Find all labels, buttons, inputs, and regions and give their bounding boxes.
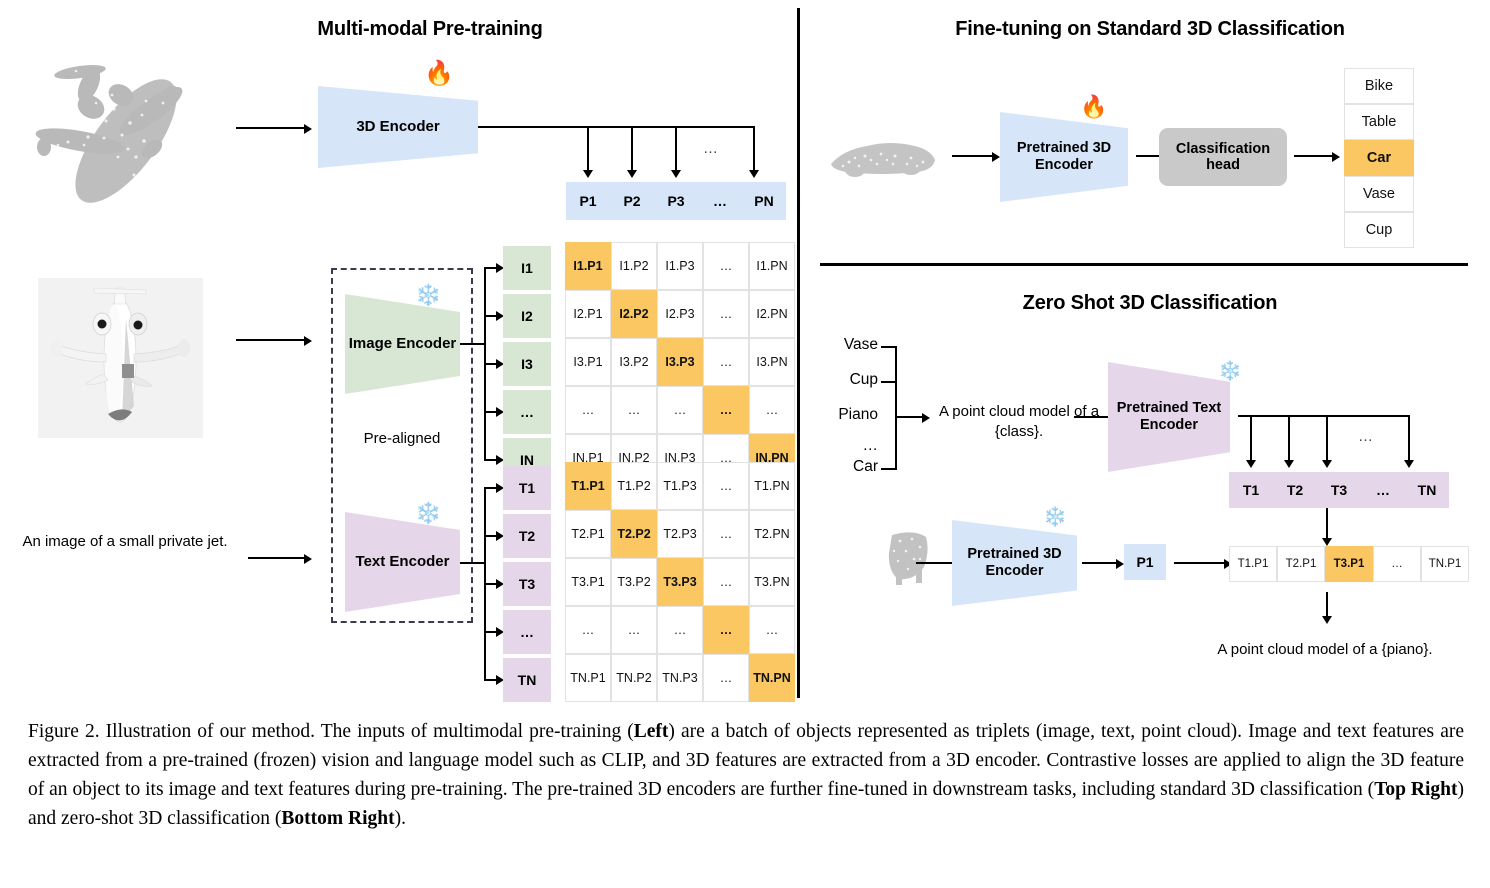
text-matrix-cell-r2c4: … — [703, 510, 749, 558]
zeroshot-score-4: … — [1373, 546, 1421, 582]
panel-divider-vertical — [797, 8, 800, 698]
arrowhead-t3-to-score — [1322, 538, 1332, 546]
zeroshot-t-token-3: T3 — [1317, 472, 1361, 508]
caption-part-2: Left — [634, 721, 669, 742]
snowflake-icon-text-zeroshot: ❄️ — [1218, 362, 1242, 381]
zeroshot-class-4: … — [806, 436, 878, 457]
class-bracket-tick-car — [881, 468, 896, 470]
zeroshot-result-text: A point cloud model of a {piano}. — [1180, 640, 1470, 660]
flame-icon-finetune: 🔥 — [1080, 96, 1107, 118]
bottom-right-panel-title: Zero Shot 3D Classification — [830, 292, 1470, 315]
text-matrix-cell-r3c2: T3.P2 — [611, 558, 657, 606]
arrowhead-p3 — [671, 170, 681, 178]
text-matrix-cell-r5c1: TN.P1 — [565, 654, 611, 702]
image-matrix-cell-r2c5: I2.PN — [749, 290, 795, 338]
image-fanout-stem — [460, 343, 484, 345]
arrowhead-score-to-result — [1322, 616, 1332, 624]
jet-image-box — [38, 278, 203, 438]
i-token-2: I2 — [503, 294, 551, 338]
image-matrix-cell-r1c4: … — [703, 242, 749, 290]
class-bracket-vertical — [895, 346, 897, 470]
caption-part-4: Top Right — [1374, 779, 1457, 800]
piano-point-cloud — [880, 525, 950, 590]
text-matrix-cell-r3c4: … — [703, 558, 749, 606]
t-token-4: … — [503, 610, 551, 654]
image-matrix-cell-r4c4: … — [703, 386, 749, 434]
arrowhead-car-to-encoder — [992, 152, 1000, 162]
image-matrix-cell-r1c5: I1.PN — [749, 242, 795, 290]
class-option-vase[interactable]: Vase — [1344, 176, 1414, 212]
snowflake-icon-3d-zeroshot: ❄️ — [1043, 508, 1067, 527]
snowflake-icon-text-encoder: ❄️ — [415, 503, 441, 524]
p-token-1: P1 — [566, 182, 610, 220]
arrowhead-t2-zs — [1284, 460, 1294, 468]
arrowhead-encoder-to-p1-zs — [1116, 559, 1124, 569]
jet-render — [38, 278, 203, 438]
input-text-caption: An image of a small private jet. — [20, 532, 230, 552]
bus-drop-t2-zs — [1288, 415, 1290, 461]
bus-drop-p1 — [587, 126, 589, 171]
zeroshot-t-token-1: T1 — [1229, 472, 1273, 508]
t-token-5: TN — [503, 658, 551, 702]
text-matrix-cell-r2c1: T2.P1 — [565, 510, 611, 558]
caption-part-6: Bottom Right — [281, 808, 394, 829]
caption-part-1: Figure 2. Illustration of our method. Th… — [28, 721, 634, 742]
class-option-bike[interactable]: Bike — [1344, 68, 1414, 104]
snowflake-icon-image-encoder: ❄️ — [415, 285, 441, 306]
bus-drop-t3-zs — [1326, 415, 1328, 461]
encoder-3d-label: 3D Encoder — [356, 118, 439, 135]
text-matrix-cell-r4c2: … — [611, 606, 657, 654]
arrow-image-to-imageencoder — [236, 339, 306, 341]
encoder-pretrained-text-zeroshot-label: Pretrained Text Encoder — [1108, 400, 1230, 433]
image-matrix-cell-r3c1: I3.P1 — [565, 338, 611, 386]
zeroshot-t-token-2: T2 — [1273, 472, 1317, 508]
text-matrix-cell-r4c1: … — [565, 606, 611, 654]
arrow-t3-to-score — [1326, 508, 1328, 540]
panel-divider-horizontal — [820, 263, 1468, 266]
image-matrix-cell-r3c3: I3.P3 — [657, 338, 703, 386]
image-matrix-cell-r4c2: … — [611, 386, 657, 434]
t-token-1: T1 — [503, 466, 551, 510]
zeroshot-class-2: Cup — [806, 370, 878, 391]
encoder-pretrained-3d-zeroshot: Pretrained 3D Encoder — [952, 520, 1077, 606]
arrow-encoder-to-p1-zs — [1082, 562, 1118, 564]
classification-head-label: Classification head — [1159, 141, 1287, 173]
text-matrix-cell-r4c4: … — [703, 606, 749, 654]
image-matrix-cell-r1c3: I1.P3 — [657, 242, 703, 290]
text-matrix-cell-r3c3: T3.P3 — [657, 558, 703, 606]
bus-ellipsis-t-zs: … — [1358, 428, 1373, 445]
i-token-1: I1 — [503, 246, 551, 290]
arrowhead-p1 — [583, 170, 593, 178]
text-matrix-cell-r4c3: … — [657, 606, 703, 654]
text-matrix-cell-r1c5: T1.PN — [749, 462, 795, 510]
arrow-score-to-result — [1326, 592, 1328, 618]
zeroshot-score-1: T1.P1 — [1229, 546, 1277, 582]
top-right-panel-title: Fine-tuning on Standard 3D Classificatio… — [830, 18, 1470, 41]
p1-token-zeroshot-label: P1 — [1136, 554, 1153, 570]
arrowhead-image-to-imageencoder — [304, 336, 312, 346]
figure-caption: Figure 2. Illustration of our method. Th… — [28, 718, 1464, 833]
text-matrix-cell-r1c1: T1.P1 — [565, 462, 611, 510]
arrowhead-tn-zs — [1404, 460, 1414, 468]
bus-textencoder-to-ttokens — [1238, 415, 1410, 417]
image-matrix-cell-r3c4: … — [703, 338, 749, 386]
image-matrix-cell-r2c3: I2.P3 — [657, 290, 703, 338]
zeroshot-t-token-4: … — [1361, 472, 1405, 508]
text-matrix-cell-r5c4: … — [703, 654, 749, 702]
encoder-pretrained-3d-zeroshot-label: Pretrained 3D Encoder — [952, 546, 1077, 579]
bus-drop-pn — [753, 126, 755, 171]
text-matrix-cell-r2c3: T2.P3 — [657, 510, 703, 558]
i-token-4: … — [503, 390, 551, 434]
image-matrix-cell-r4c5: … — [749, 386, 795, 434]
i-token-3: I3 — [503, 342, 551, 386]
bus-drop-tn-zs — [1408, 415, 1410, 461]
zeroshot-class-3: Piano — [806, 405, 878, 426]
arrowhead-pn — [749, 170, 759, 178]
zeroshot-score-3: T3.P1 — [1325, 546, 1373, 582]
image-matrix-cell-r1c2: I1.P2 — [611, 242, 657, 290]
arrowhead-classes-to-prompt — [922, 413, 930, 423]
image-matrix-cell-r1c1: I1.P1 — [565, 242, 611, 290]
p-token-3: P3 — [654, 182, 698, 220]
p1-token-zeroshot: P1 — [1124, 544, 1166, 580]
arrow-p1-to-scores — [1174, 562, 1226, 564]
zeroshot-score-2: T2.P1 — [1277, 546, 1325, 582]
prompt-template: A point cloud model of a {class}. — [930, 402, 1108, 443]
arrowhead-head-to-classes — [1332, 152, 1340, 162]
airplane-point-cloud — [18, 45, 223, 220]
bus-drop-t1-zs — [1250, 415, 1252, 461]
bus-drop-p2 — [631, 126, 633, 171]
figure-canvas: Multi-modal Pre-training — [0, 0, 1490, 888]
arrowhead-t3-zs — [1322, 460, 1332, 468]
p-token-2: P2 — [610, 182, 654, 220]
text-matrix-cell-r1c2: T1.P2 — [611, 462, 657, 510]
arrowhead-p2 — [627, 170, 637, 178]
text-matrix-cell-r2c2: T2.P2 — [611, 510, 657, 558]
arrow-pointcloud-to-3dencoder — [236, 127, 306, 129]
caption-part-7: ). — [395, 808, 406, 829]
arrow-prompt-to-textencoder — [1074, 416, 1112, 418]
arrow-head-to-classes — [1294, 155, 1334, 157]
image-matrix-cell-r4c3: … — [657, 386, 703, 434]
image-matrix-cell-r4c1: … — [565, 386, 611, 434]
class-option-table[interactable]: Table — [1344, 104, 1414, 140]
encoder-pretrained-3d-finetune-label: Pretrained 3D Encoder — [1000, 140, 1128, 173]
image-matrix-cell-r2c1: I2.P1 — [565, 290, 611, 338]
text-matrix-cell-r5c5: TN.PN — [749, 654, 795, 702]
text-matrix-cell-r3c1: T3.P1 — [565, 558, 611, 606]
t-token-2: T2 — [503, 514, 551, 558]
prealigned-label: Pre-aligned — [331, 429, 473, 449]
arrow-car-to-encoder — [952, 155, 994, 157]
text-matrix-cell-r1c4: … — [703, 462, 749, 510]
zeroshot-class-1: Vase — [806, 335, 878, 356]
bus-ellipsis-p: … — [703, 140, 718, 157]
arrow-classes-to-prompt — [896, 416, 924, 418]
t-token-3: T3 — [503, 562, 551, 606]
class-bracket-tick-cup — [881, 381, 896, 383]
flame-icon: 🔥 — [424, 62, 454, 86]
image-matrix-cell-r2c4: … — [703, 290, 749, 338]
text-matrix-cell-r2c5: T2.PN — [749, 510, 795, 558]
text-matrix-cell-r5c3: TN.P3 — [657, 654, 703, 702]
p-token-5: PN — [742, 182, 786, 220]
p-token-4: … — [698, 182, 742, 220]
encoder-image-label: Image Encoder — [349, 335, 457, 352]
arrowhead-pointcloud-to-3dencoder — [304, 124, 312, 134]
car-point-cloud — [825, 130, 940, 182]
classification-head: Classification head — [1159, 128, 1287, 186]
left-panel-title: Multi-modal Pre-training — [220, 18, 640, 41]
arrowhead-text-to-textencoder — [304, 554, 312, 564]
encoder-pretrained-text-zeroshot: Pretrained Text Encoder — [1108, 362, 1230, 472]
text-matrix-cell-r4c5: … — [749, 606, 795, 654]
class-option-cup[interactable]: Cup — [1344, 212, 1414, 248]
bus-3dencoder-to-ptokens — [478, 126, 755, 128]
text-matrix-cell-r5c2: TN.P2 — [611, 654, 657, 702]
class-bracket-tick-vase — [881, 346, 896, 348]
zeroshot-t-token-5: TN — [1405, 472, 1449, 508]
zeroshot-class-5: Car — [806, 457, 878, 478]
zeroshot-score-5: TN.P1 — [1421, 546, 1469, 582]
text-matrix-cell-r3c5: T3.PN — [749, 558, 795, 606]
arrowhead-t1-zs — [1246, 460, 1256, 468]
class-option-car[interactable]: Car — [1344, 140, 1414, 176]
image-matrix-cell-r3c5: I3.PN — [749, 338, 795, 386]
encoder-text-label: Text Encoder — [356, 553, 450, 570]
text-fanout-stem — [460, 562, 484, 564]
bus-drop-p3 — [675, 126, 677, 171]
text-matrix-cell-r1c3: T1.P3 — [657, 462, 703, 510]
encoder-3d: 3D Encoder — [318, 86, 478, 168]
arrow-text-to-textencoder — [248, 557, 306, 559]
image-matrix-cell-r2c2: I2.P2 — [611, 290, 657, 338]
encoder-pretrained-3d-finetune: Pretrained 3D Encoder — [1000, 112, 1128, 202]
image-matrix-cell-r3c2: I3.P2 — [611, 338, 657, 386]
